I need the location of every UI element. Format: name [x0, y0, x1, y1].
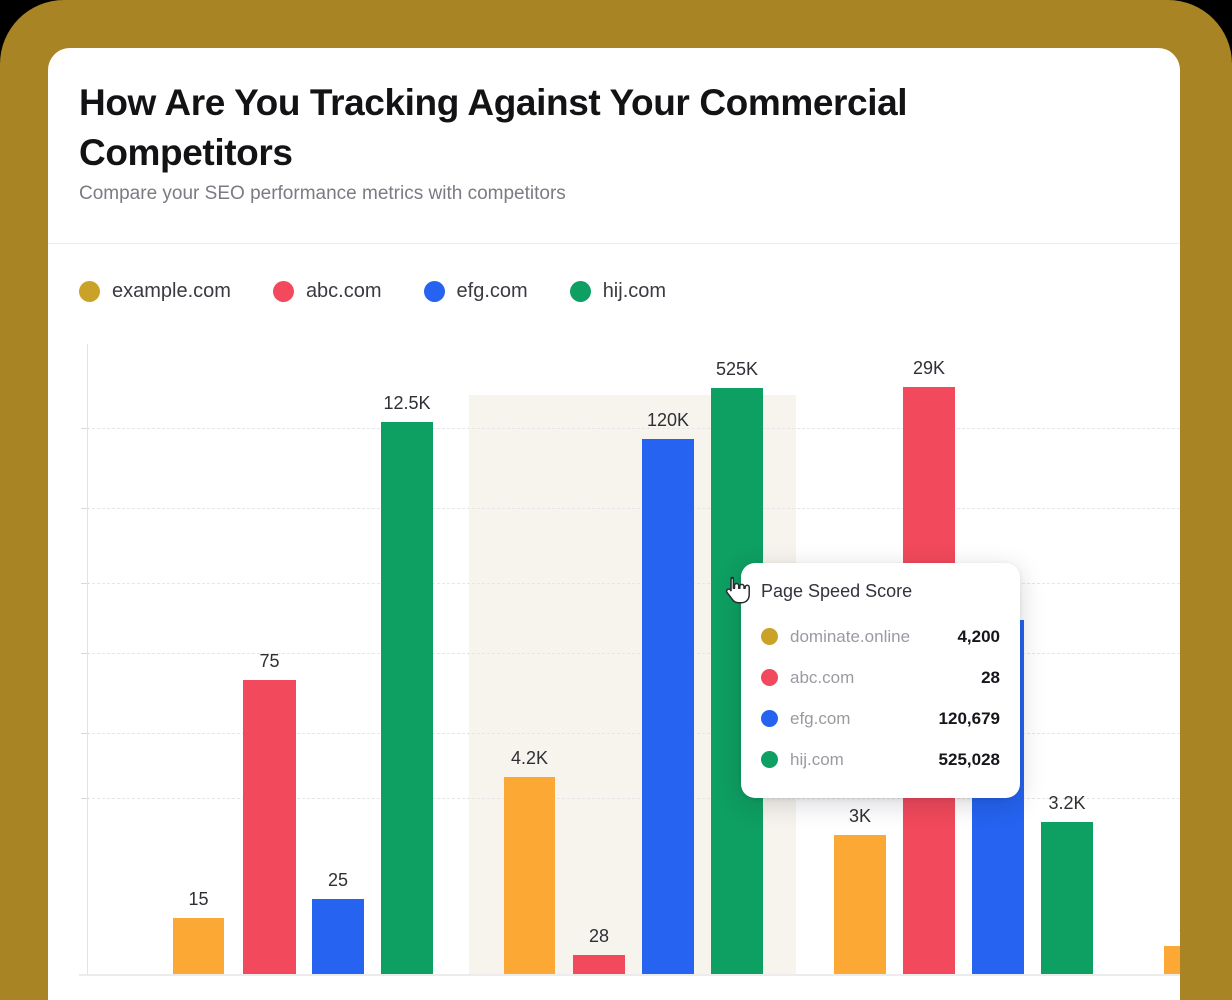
tooltip-series-value: 525,028	[939, 750, 1000, 770]
legend-dot-icon	[570, 281, 591, 302]
bar-example-com-g3[interactable]	[1164, 946, 1180, 974]
tooltip-series-dot-icon	[761, 669, 778, 686]
tooltip-series-name: dominate.online	[790, 627, 957, 647]
legend-item-label: abc.com	[306, 280, 382, 303]
bar-value-label: 25	[292, 870, 384, 891]
bar-hij-com-g2[interactable]	[1041, 822, 1093, 974]
tooltip-row: efg.com120,679	[761, 698, 1000, 739]
bar-efg-com-g0[interactable]	[312, 899, 364, 974]
legend-item-label: hij.com	[603, 280, 666, 303]
tooltip-row: dominate.online4,200	[761, 616, 1000, 657]
tooltip-series-name: abc.com	[790, 668, 981, 688]
bar-example-com-g0[interactable]	[173, 918, 224, 974]
bar-value-label: 75	[223, 651, 316, 672]
bar-value-label: 29K	[883, 358, 975, 379]
tooltip-series-dot-icon	[761, 628, 778, 645]
bar-abc-com-g1[interactable]	[573, 955, 625, 974]
legend-item-example-com[interactable]: example.com	[79, 280, 231, 303]
bar-value-label: 12.5K	[361, 393, 453, 414]
bar-example-com-g1[interactable]	[504, 777, 555, 974]
chart-tooltip: Page Speed Score dominate.online4,200abc…	[741, 563, 1020, 798]
bar-value-label: 525K	[691, 359, 783, 380]
legend-dot-icon	[79, 281, 100, 302]
legend-item-label: efg.com	[457, 280, 528, 303]
page-subtitle: Compare your SEO performance metrics wit…	[79, 183, 566, 205]
bar-value-label: 120K	[622, 410, 714, 431]
tooltip-series-value: 4,200	[957, 627, 1000, 647]
bar-value-label: 5K	[1144, 917, 1180, 938]
chart-legend: example.comabc.comefg.comhij.com	[79, 280, 666, 303]
tooltip-series-value: 28	[981, 668, 1000, 688]
tooltip-title: Page Speed Score	[761, 581, 1000, 602]
card-header: How Are You Tracking Against Your Commer…	[48, 48, 1180, 244]
outer-gold-frame: How Are You Tracking Against Your Commer…	[0, 0, 1232, 1000]
bar-hij-com-g0[interactable]	[381, 422, 433, 974]
tooltip-rows: dominate.online4,200abc.com28efg.com120,…	[761, 616, 1000, 780]
page-title: How Are You Tracking Against Your Commer…	[79, 78, 999, 178]
tooltip-series-name: hij.com	[790, 750, 939, 770]
y-axis-line	[87, 344, 88, 976]
bar-value-label: 4.2K	[484, 748, 575, 769]
legend-item-abc-com[interactable]: abc.com	[273, 280, 382, 303]
tooltip-series-dot-icon	[761, 710, 778, 727]
x-axis-line	[79, 974, 1180, 976]
legend-dot-icon	[273, 281, 294, 302]
bar-value-label: 3.2K	[1021, 793, 1113, 814]
bar-value-label: 15	[153, 889, 244, 910]
bar-value-label: 28	[553, 926, 645, 947]
legend-item-hij-com[interactable]: hij.com	[570, 280, 666, 303]
bar-value-label: 3K	[814, 806, 906, 827]
tooltip-series-value: 120,679	[939, 709, 1000, 729]
tooltip-series-dot-icon	[761, 751, 778, 768]
legend-item-label: example.com	[112, 280, 231, 303]
legend-dot-icon	[424, 281, 445, 302]
gridline-1	[87, 508, 1180, 509]
tooltip-row: abc.com28	[761, 657, 1000, 698]
bar-efg-com-g1[interactable]	[642, 439, 694, 974]
tooltip-series-name: efg.com	[790, 709, 939, 729]
chart-card: How Are You Tracking Against Your Commer…	[48, 48, 1180, 1000]
tooltip-row: hij.com525,028	[761, 739, 1000, 780]
bar-abc-com-g0[interactable]	[243, 680, 296, 974]
legend-item-efg-com[interactable]: efg.com	[424, 280, 528, 303]
bar-example-com-g2[interactable]	[834, 835, 886, 974]
